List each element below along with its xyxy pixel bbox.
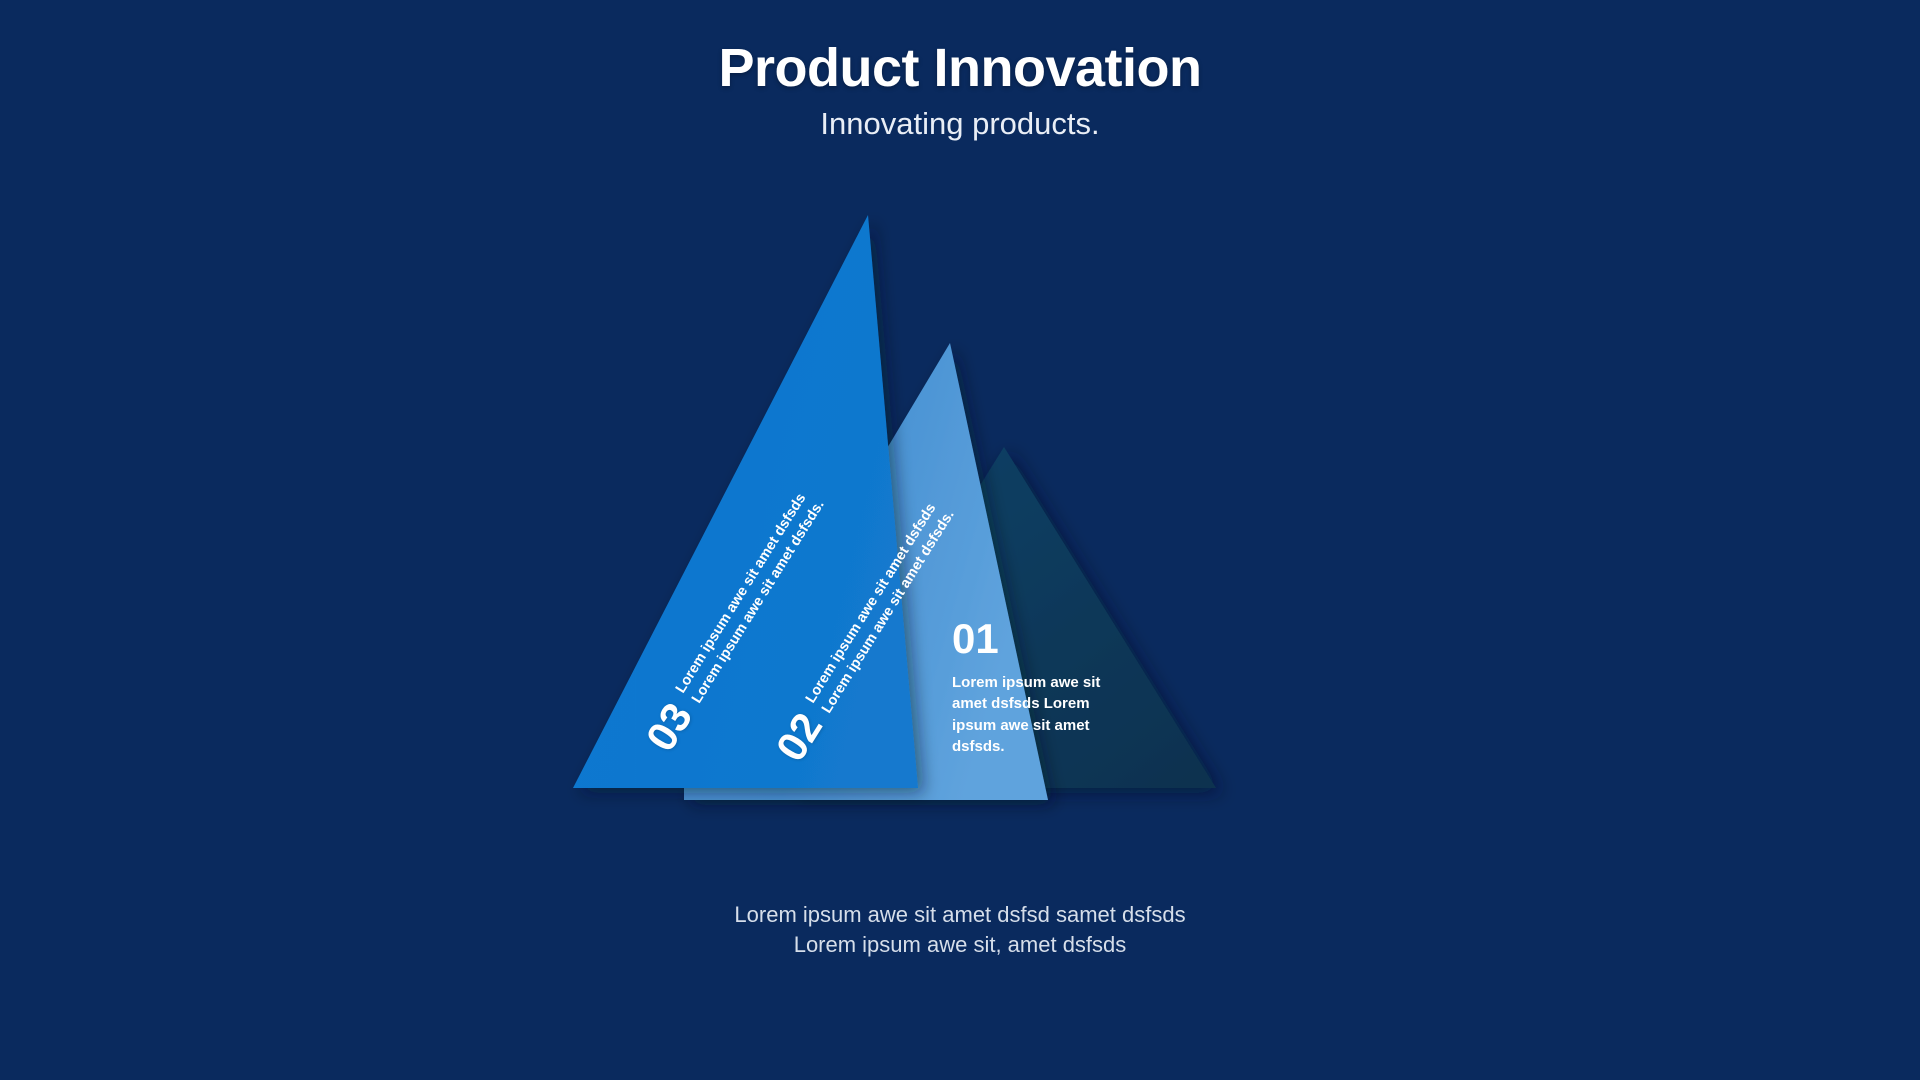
segment-01-label[interactable]: 01 Lorem ipsum awe sit amet dsfsds Lorem… (952, 618, 1114, 757)
segment-01-number: 01 (952, 618, 1114, 660)
footer-line-2: Lorem ipsum awe sit, amet dsfsds (0, 930, 1920, 960)
segment-01-description: Lorem ipsum awe sit amet dsfsds Lorem ip… (952, 672, 1114, 757)
footer-caption: Lorem ipsum awe sit amet dsfsd samet dsf… (0, 900, 1920, 959)
triangle-segment-03[interactable] (573, 215, 918, 788)
footer-line-1: Lorem ipsum awe sit amet dsfsd samet dsf… (0, 900, 1920, 930)
slide-canvas: Product Innovation Innovating products. (0, 0, 1920, 1080)
